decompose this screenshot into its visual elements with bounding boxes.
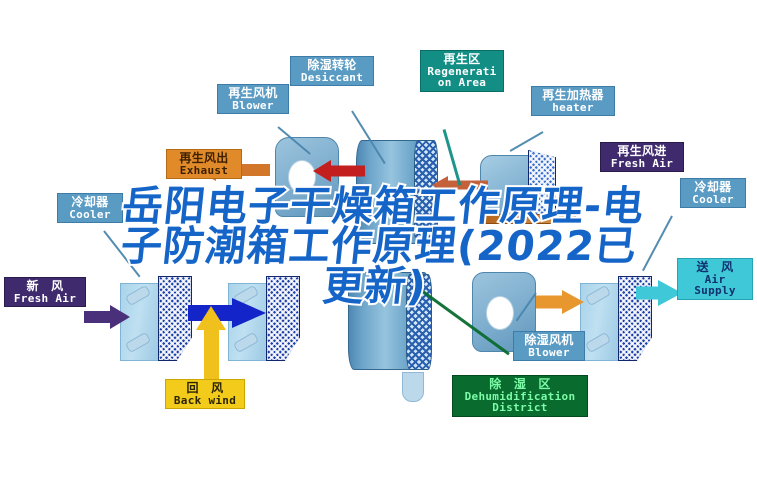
label-dehumidification-blower-en: Blower (518, 347, 580, 359)
label-exhaust-en: Exhaust (171, 165, 237, 177)
fresh-air-arrow (84, 305, 130, 329)
label-dehumidification-blower-cn: 除湿风机 (518, 334, 580, 347)
label-exhaust-cn: 再生风出 (171, 152, 237, 165)
label-regeneration-area-en2: on Area (425, 77, 499, 89)
label-regeneration-area[interactable]: 再生区 Regenerati on Area (420, 50, 504, 92)
label-regeneration-fresh-air-in[interactable]: 再生风进 Fresh Air (600, 142, 684, 172)
label-desiccant-wheel-en: Desiccant (295, 72, 369, 84)
label-regeneration-fresh-air-in-cn: 再生风进 (605, 145, 679, 158)
label-back-wind-cn: 回 风 (170, 382, 240, 395)
label-exhaust[interactable]: 再生风出 Exhaust (166, 149, 242, 179)
label-back-wind-en: Back wind (170, 395, 240, 407)
label-dehumidification-district-cn: 除 湿 区 (457, 378, 583, 391)
regeneration-return-arrow (313, 160, 365, 182)
label-regeneration-blower-cn: 再生风机 (222, 87, 284, 100)
back-wind-arrow (196, 306, 226, 382)
label-desiccant-wheel-cn: 除湿转轮 (295, 59, 369, 72)
leader-heater (510, 131, 544, 152)
label-regeneration-area-cn: 再生区 (425, 53, 499, 66)
label-dehumidification-district[interactable]: 除 湿 区 Dehumidification District (452, 375, 588, 417)
label-regeneration-fresh-air-in-en: Fresh Air (605, 158, 679, 170)
label-regeneration-blower-en: Blower (222, 100, 284, 112)
rotor-foot-lower (402, 372, 424, 402)
diagram-canvas: 除湿转轮 Desiccant 再生风机 Blower 再生区 Regenerat… (0, 0, 757, 488)
label-desiccant-wheel[interactable]: 除湿转轮 Desiccant (290, 56, 374, 86)
label-dehumidification-district-en2: District (457, 402, 583, 414)
label-regeneration-heater-cn: 再生加热器 (536, 89, 610, 102)
overlay-title: 岳阳电子干燥箱工作原理-电子防潮箱工作原理(2022已更新) (0, 186, 757, 306)
label-regeneration-blower[interactable]: 再生风机 Blower (217, 84, 289, 114)
label-regeneration-heater-en: heater (536, 102, 610, 114)
label-regeneration-heater[interactable]: 再生加热器 heater (531, 86, 615, 116)
overlay-title-text: 岳阳电子干燥箱工作原理-电子防潮箱工作原理(2022已更新) (102, 186, 655, 306)
label-back-wind[interactable]: 回 风 Back wind (165, 379, 245, 409)
label-dehumidification-blower[interactable]: 除湿风机 Blower (513, 331, 585, 361)
